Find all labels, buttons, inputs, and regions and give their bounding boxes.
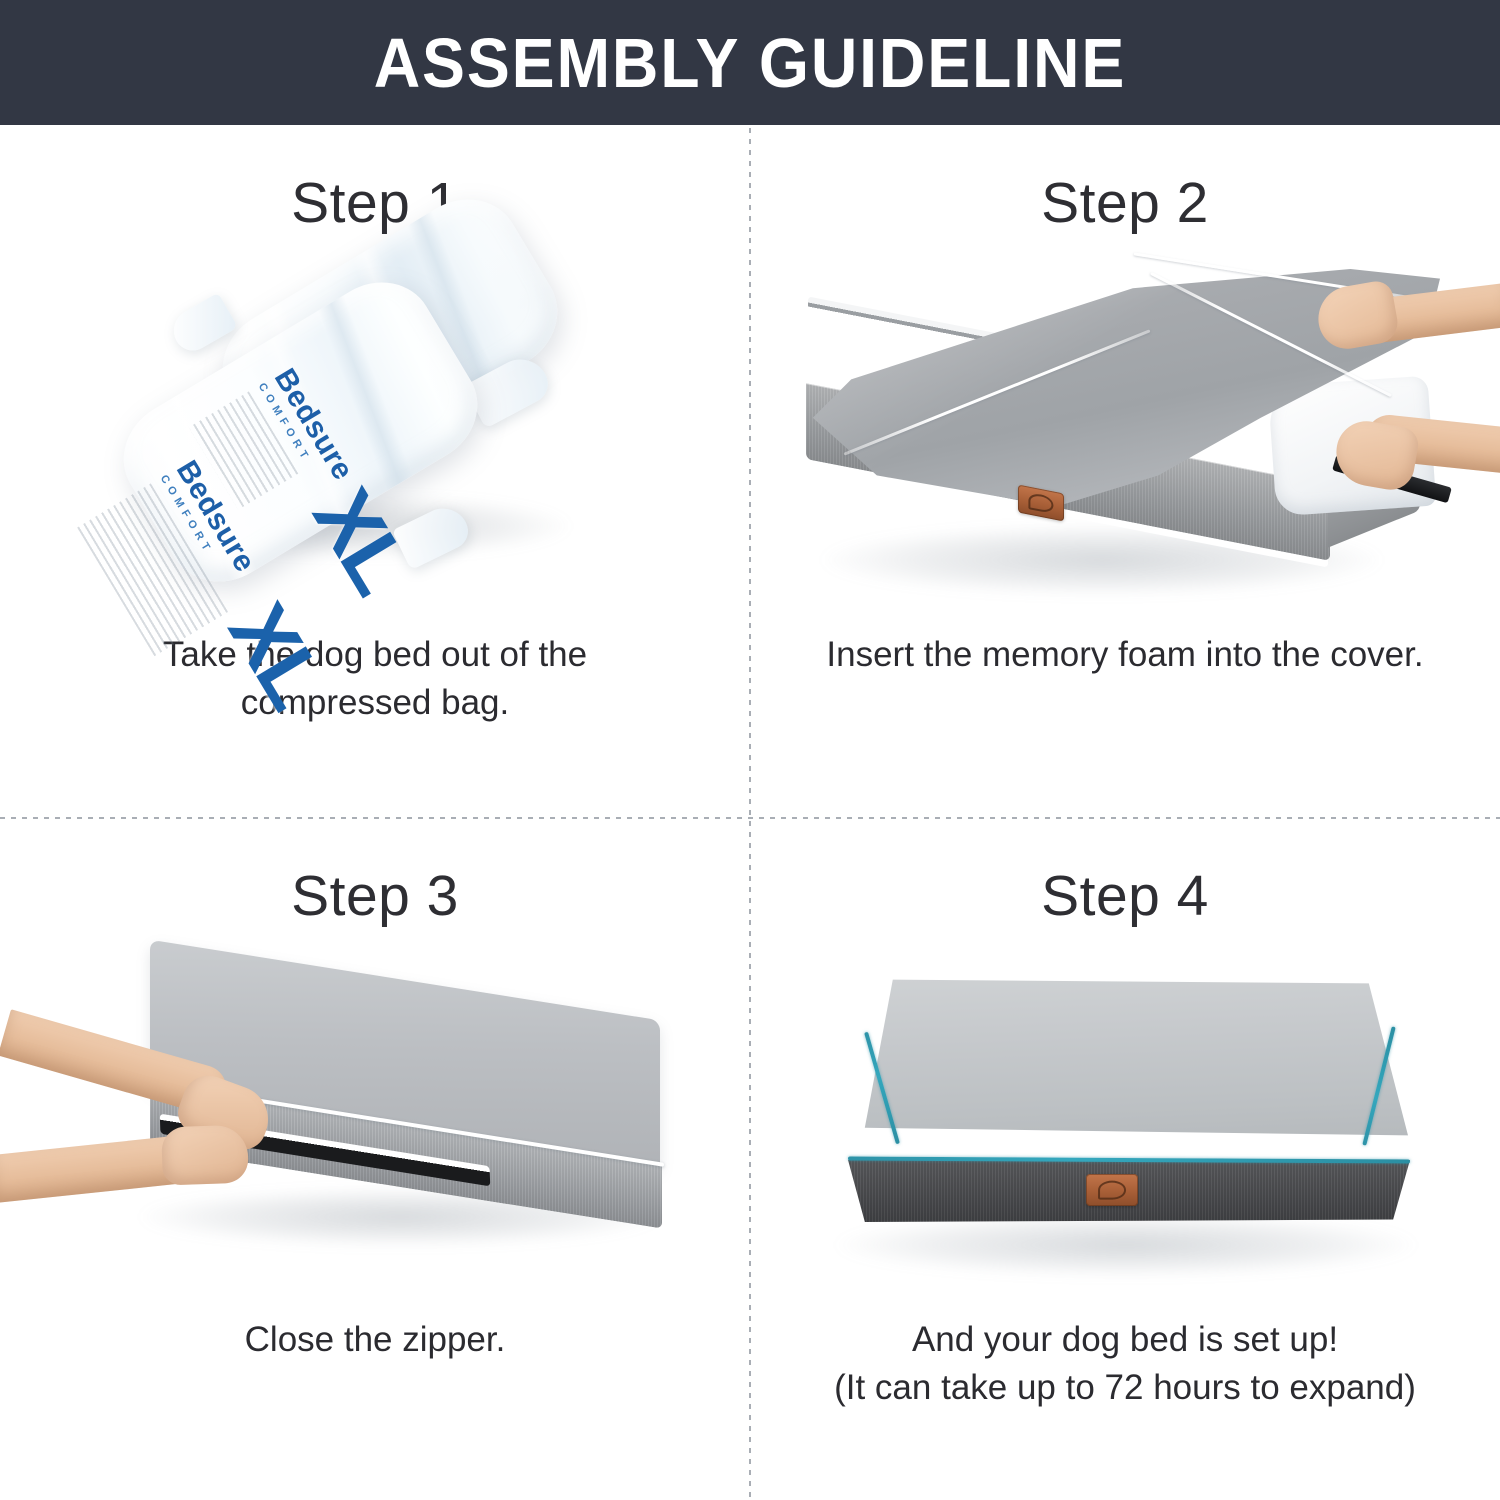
step-2-caption-line-1: Insert the memory foam into the cover. <box>790 631 1460 679</box>
leather-logo-patch <box>1086 1174 1138 1206</box>
bed-top-surface <box>848 972 1408 1162</box>
bed-shadow <box>836 1214 1416 1276</box>
step-4-caption-line-2: (It can take up to 72 hours to expand) <box>790 1364 1460 1412</box>
step-panel-1: Step 1 Bedsure COMFORT <box>0 125 750 818</box>
step-3-illustration <box>0 938 750 1338</box>
step-panel-3: Step 3 Close the zipper. <box>0 818 750 1500</box>
step-3-title: Step 3 <box>291 868 459 925</box>
dog-bed-cover-open-icon <box>780 263 1470 593</box>
step-4-title: Step 4 <box>1041 868 1209 925</box>
step-panel-4: Step 4 And your dog bed is set up! (It c… <box>750 818 1500 1500</box>
hand-lower <box>161 1125 249 1186</box>
step-2-title: Step 2 <box>1041 175 1209 232</box>
step-3-caption: Close the zipper. <box>0 1316 750 1364</box>
step-panel-2: Step 2 <box>750 125 1500 818</box>
step-1-caption: Take the dog bed out of the compressed b… <box>0 631 750 728</box>
step-2-illustration <box>750 245 1500 645</box>
step-1-illustration: Bedsure COMFORT XL <box>0 245 750 645</box>
step-1-caption-line-1: Take the dog bed out of the <box>40 631 710 679</box>
step-4-caption: And your dog bed is set up! (It can take… <box>750 1316 1500 1413</box>
header-bar: ASSEMBLY GUIDELINE <box>0 0 1500 125</box>
steps-grid: Step 1 Bedsure COMFORT <box>0 125 1500 1500</box>
assembly-guideline-page: ASSEMBLY GUIDELINE Step 1 <box>0 0 1500 1500</box>
step-4-illustration <box>750 938 1500 1338</box>
step-3-caption-line-1: Close the zipper. <box>40 1316 710 1364</box>
step-1-caption-line-2: compressed bag. <box>40 679 710 727</box>
step-2-caption: Insert the memory foam into the cover. <box>750 631 1500 679</box>
step-4-caption-line-1: And your dog bed is set up! <box>790 1316 1460 1364</box>
dog-bed-zipper-closing-icon <box>10 958 730 1258</box>
finished-dog-bed-icon <box>790 946 1470 1276</box>
page-title: ASSEMBLY GUIDELINE <box>374 23 1126 103</box>
compressed-vacuum-bags-icon: Bedsure COMFORT XL <box>0 245 750 645</box>
